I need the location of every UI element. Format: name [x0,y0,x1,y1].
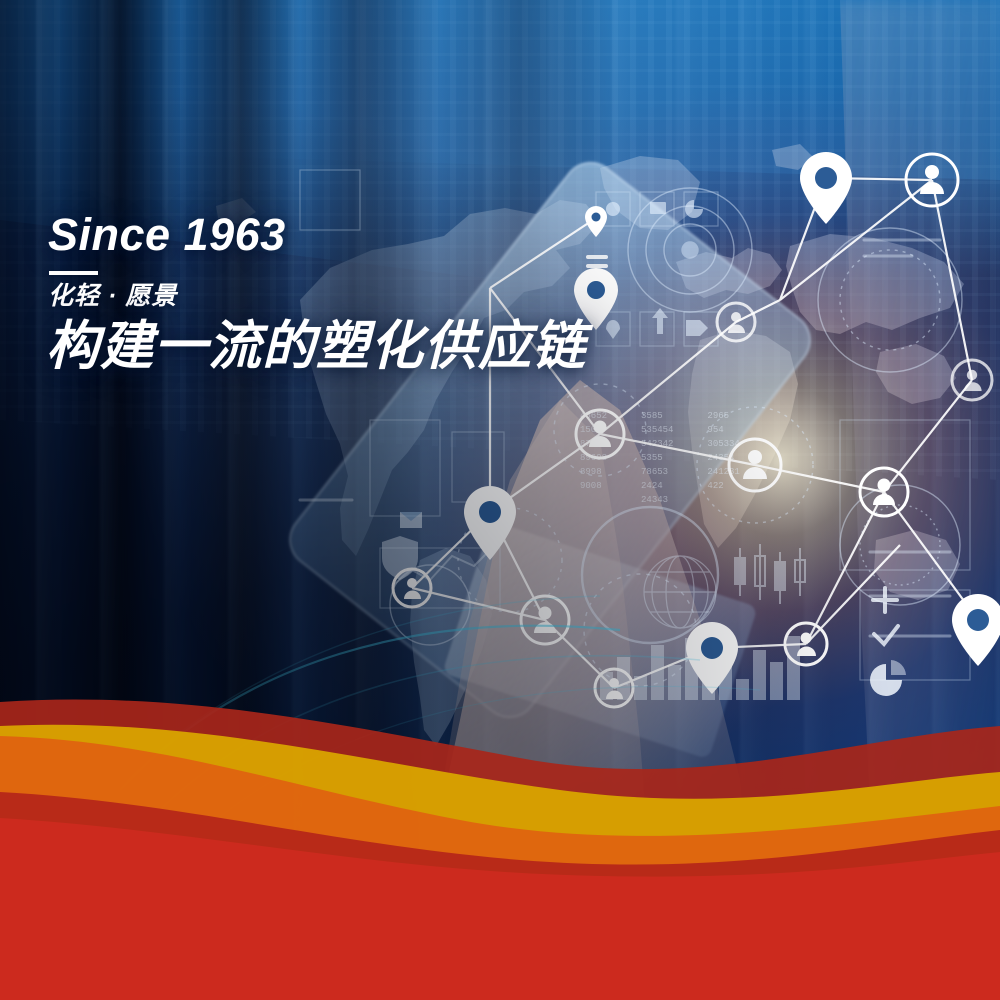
page-title: 构建一流的塑化供应链 [46,318,586,375]
bottom-wave-graphic [0,680,1000,1000]
subtitle-label: 化轻 · 愿景 [48,283,586,311]
since-label: Since 1963 [48,212,586,257]
title-divider-rule [49,271,98,275]
hero-banner: 45652 1507 87898 89698 8998 9008 45652 1… [0,0,1000,1000]
hero-text-block: Since 1963 化轻 · 愿景 构建一流的塑化供应链 [48,212,586,375]
